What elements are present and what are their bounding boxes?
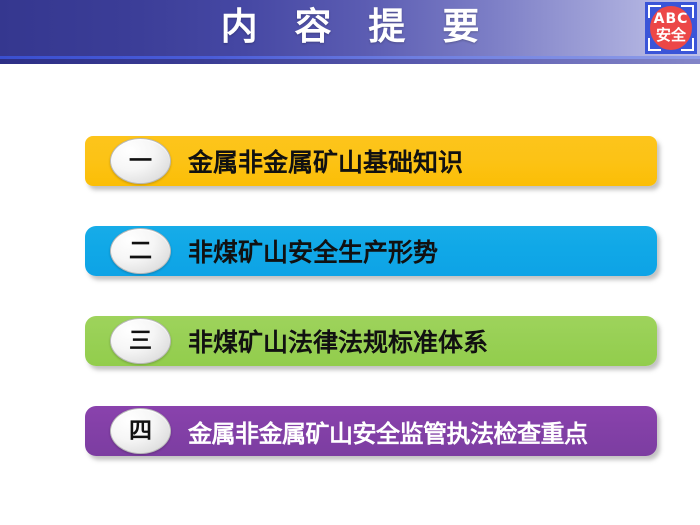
agenda-number-badge-4: 四 [110,408,171,454]
agenda-item-1[interactable]: 一 金属非金属矿山基础知识 [85,136,657,186]
agenda-label-2: 非煤矿山安全生产形势 [188,233,438,269]
agenda-item-4[interactable]: 四 金属非金属矿山安全监管执法检查重点 [85,406,657,456]
agenda-label-4: 金属非金属矿山安全监管执法检查重点 [188,414,588,449]
agenda-number-badge-1: 一 [110,138,171,184]
agenda-list: 一 金属非金属矿山基础知识 二 非煤矿山安全生产形势 三 非煤矿山法律法规标准体… [0,0,700,525]
agenda-label-3: 非煤矿山法律法规标准体系 [188,323,488,359]
agenda-number-3: 三 [129,328,152,354]
agenda-number-badge-3: 三 [110,318,171,364]
agenda-number-1: 一 [129,148,152,174]
agenda-item-2[interactable]: 二 非煤矿山安全生产形势 [85,226,657,276]
agenda-number-4: 四 [129,418,152,444]
agenda-item-3[interactable]: 三 非煤矿山法律法规标准体系 [85,316,657,366]
agenda-label-1: 金属非金属矿山基础知识 [188,143,463,179]
agenda-number-badge-2: 二 [110,228,171,274]
agenda-number-2: 二 [129,238,152,264]
